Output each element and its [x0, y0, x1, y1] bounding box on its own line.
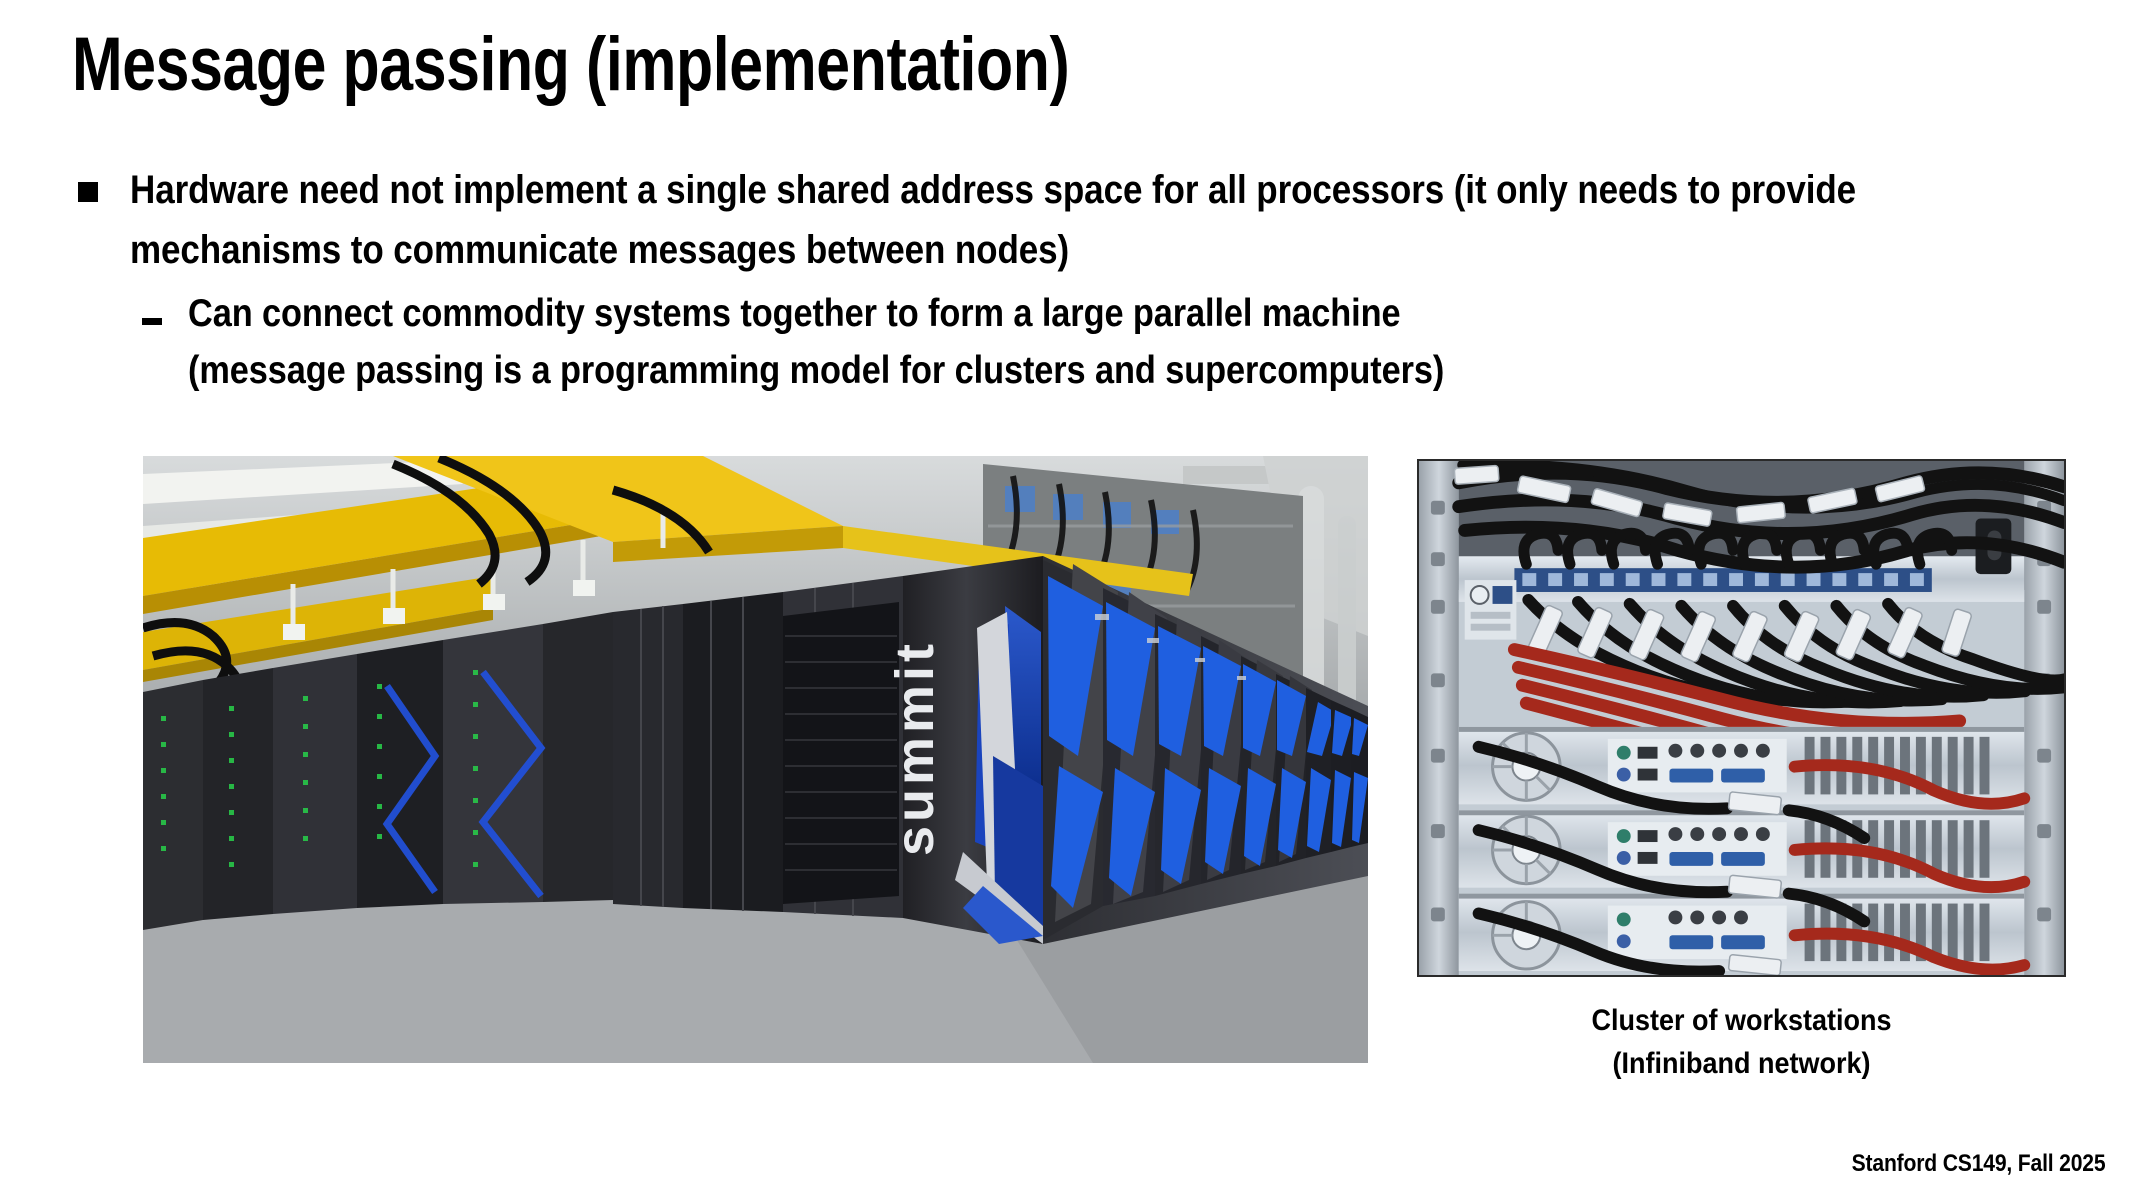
page-title: Message passing (implementation) [72, 22, 1069, 107]
cluster-illustration [1419, 461, 2064, 975]
figure-caption: Cluster of workstations (Infiniband netw… [1417, 1000, 2066, 1085]
dash-bullet-icon [142, 318, 162, 325]
bullet-item-sub-body: Can connect commodity systems together t… [188, 286, 2058, 399]
front-cabinet [613, 576, 903, 918]
bullet-item-primary: Hardware need not implement a single sha… [78, 160, 2058, 280]
bullet-item-primary-body: Hardware need not implement a single sha… [130, 160, 2103, 280]
bullet-list: Hardware need not implement a single sha… [78, 160, 2058, 399]
caption-line: Cluster of workstations [1449, 1000, 2033, 1043]
bullet-line: mechanisms to communicate messages betwe… [130, 220, 1856, 280]
bullet-item-sub: Can connect commodity systems together t… [142, 286, 2058, 399]
switch-port-strip [1514, 568, 1931, 592]
summit-supercomputer-image: summit [143, 456, 1368, 1063]
filled-square-bullet-icon [78, 182, 98, 202]
sub-bullet-line: (message passing is a programming model … [188, 343, 1834, 400]
summit-logo-text: summit [885, 640, 945, 856]
summit-logo-panel: summit [885, 556, 1043, 944]
cluster-of-workstations-image [1417, 459, 2066, 977]
sub-bullet-line: Can connect commodity systems together t… [188, 286, 1834, 343]
bullet-line: Hardware need not implement a single sha… [130, 160, 1856, 220]
caption-line: (Infiniband network) [1449, 1043, 2033, 1086]
slide-footer: Stanford CS149, Fall 2025 [1851, 1150, 2105, 1178]
summit-illustration: summit [143, 456, 1368, 1063]
